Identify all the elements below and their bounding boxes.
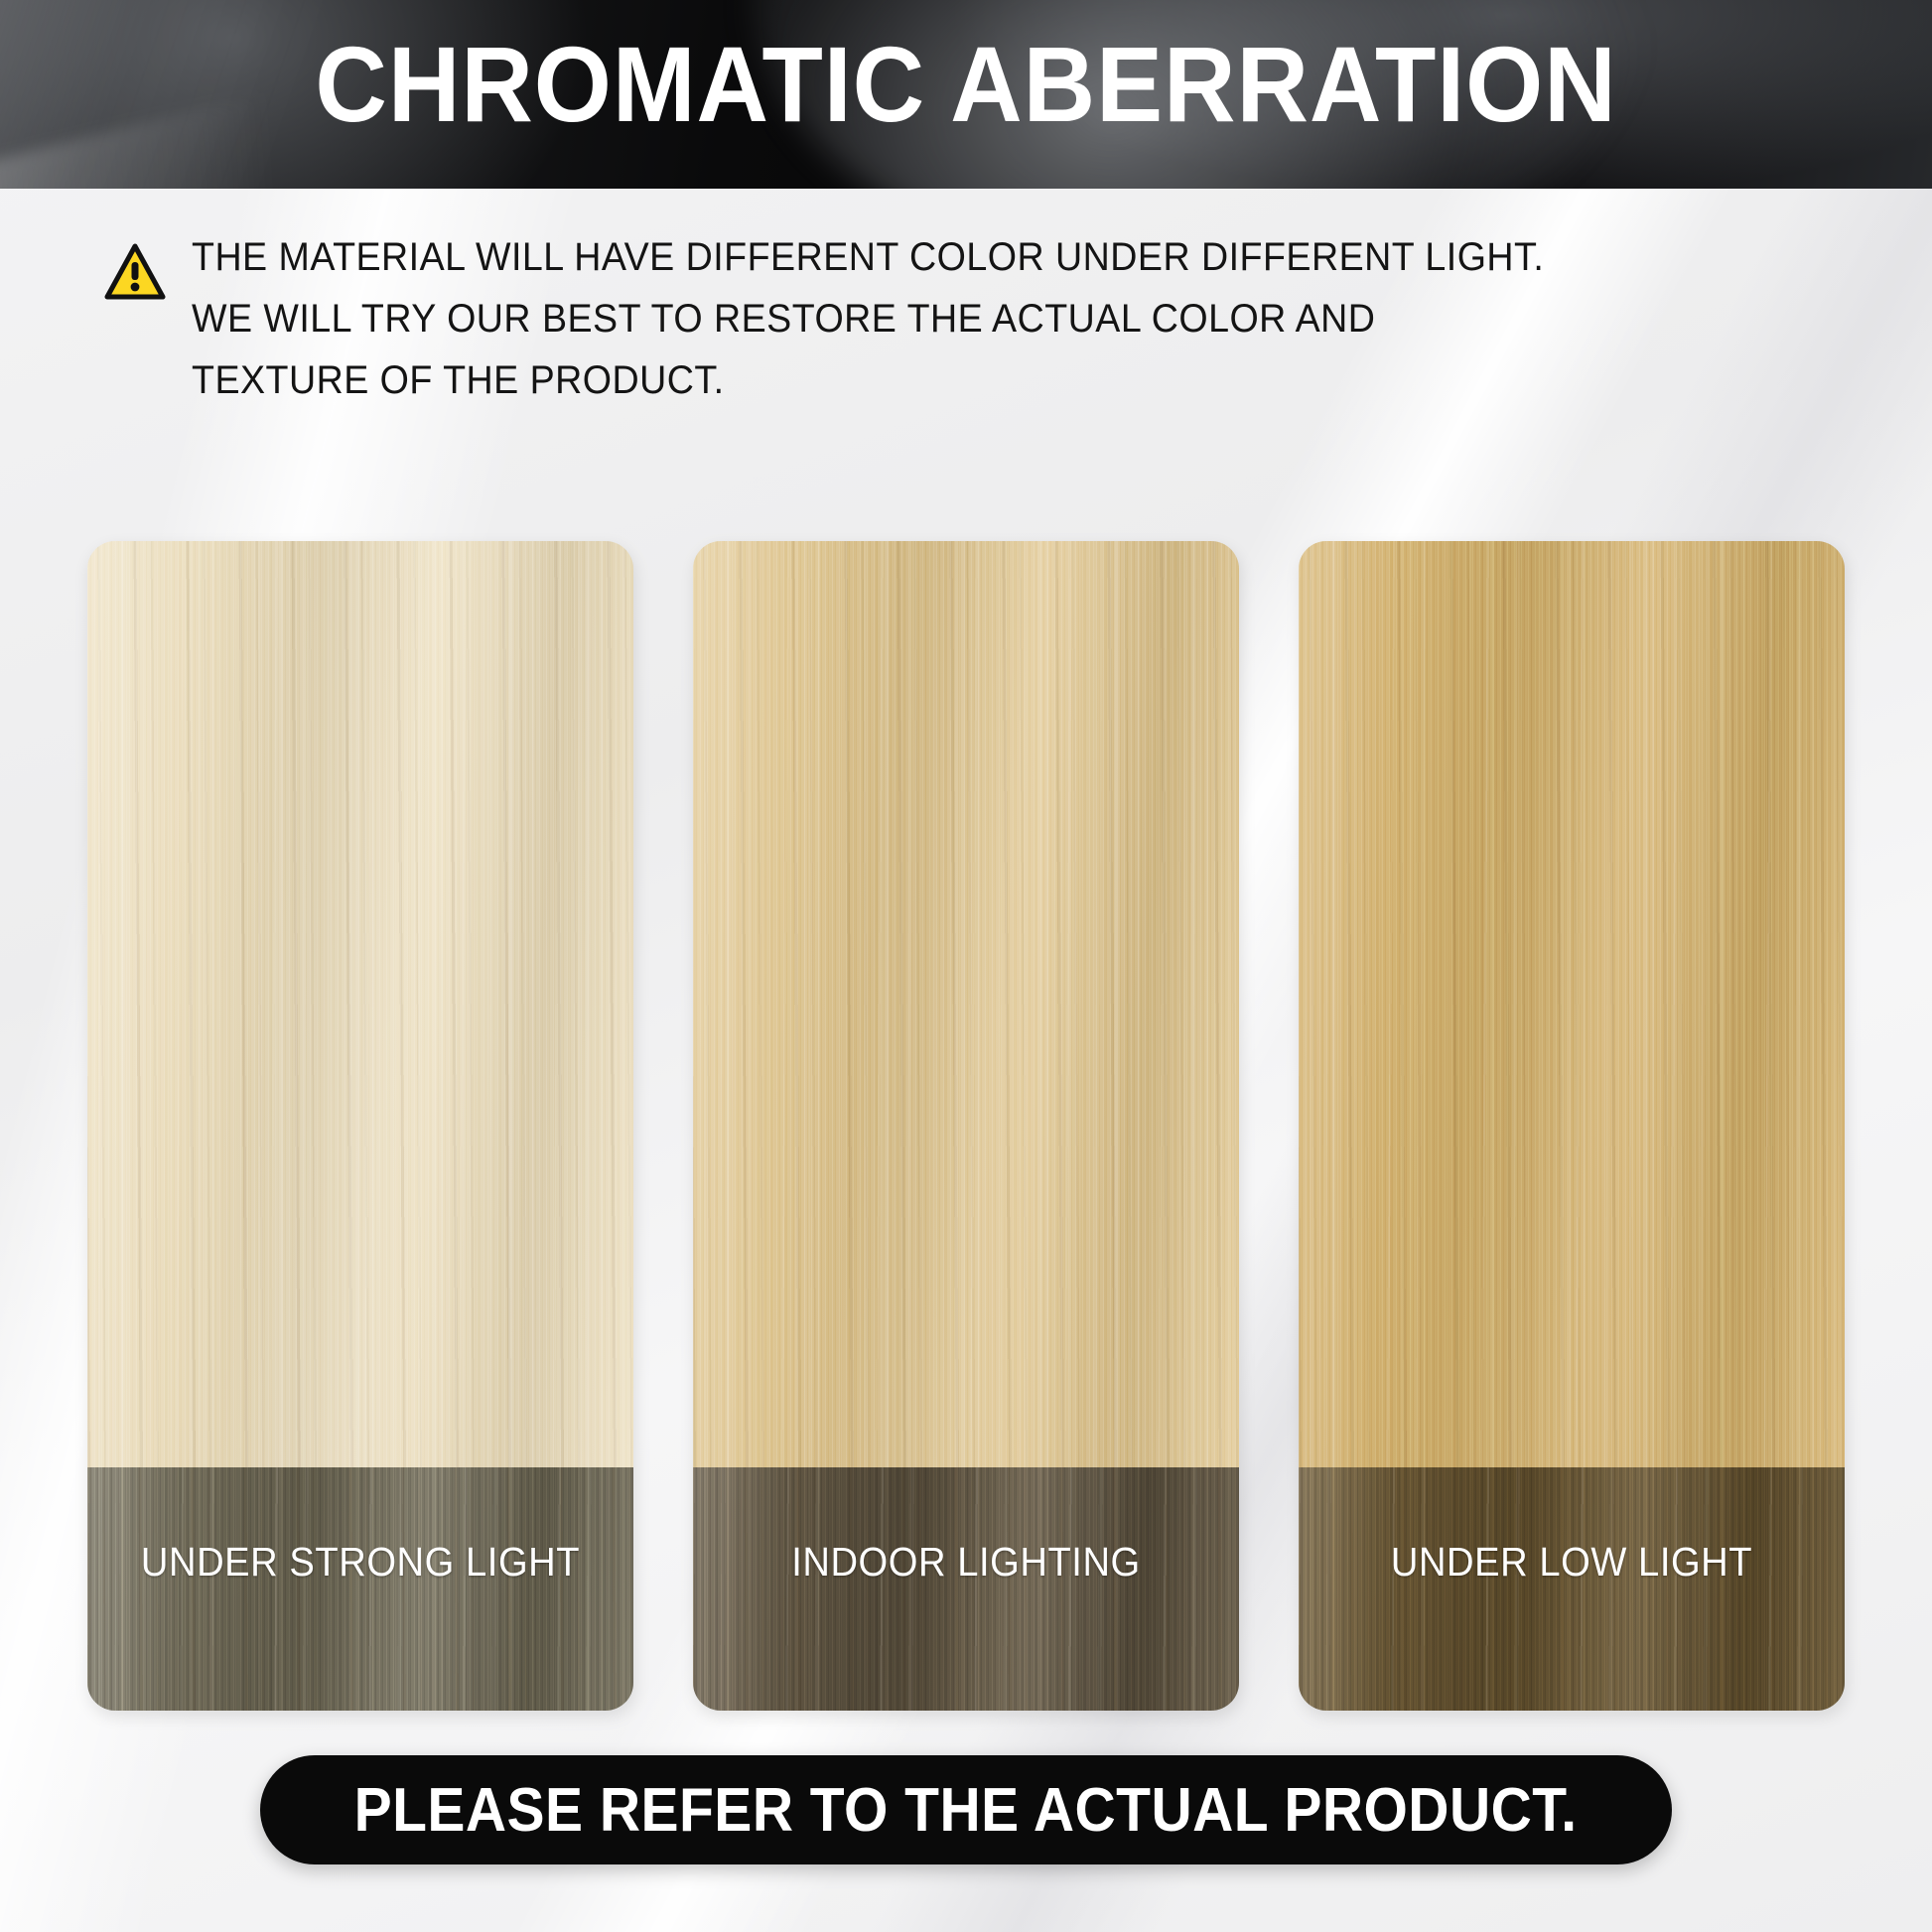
swatch-label-under-strong-light: UNDER STRONG LIGHT bbox=[106, 1539, 615, 1586]
warning-triangle-icon bbox=[104, 242, 166, 302]
swatch-3-top-grain-fine bbox=[1299, 541, 1845, 1467]
swatch-3-wood-band bbox=[1299, 1467, 1845, 1711]
swatch-1-top-grain-fine bbox=[87, 541, 633, 1467]
notice-text-block: THE MATERIAL WILL HAVE DIFFERENT COLOR U… bbox=[192, 226, 1544, 411]
swatch-3-band-grain-fine bbox=[1299, 1467, 1845, 1711]
swatch-under-strong-light[interactable]: UNDER STRONG LIGHT bbox=[87, 541, 633, 1711]
swatch-under-low-light[interactable]: UNDER LOW LIGHT bbox=[1299, 541, 1845, 1711]
swatch-3-wood-top bbox=[1299, 541, 1845, 1467]
page-title: CHROMATIC ABERRATION bbox=[68, 26, 1864, 144]
swatch-1-wood-band bbox=[87, 1467, 633, 1711]
swatch-label-under-low-light: UNDER LOW LIGHT bbox=[1317, 1539, 1826, 1586]
notice-line-2: WE WILL TRY OUR BEST TO RESTORE THE ACTU… bbox=[192, 288, 1544, 349]
swatch-label-indoor-lighting: INDOOR LIGHTING bbox=[712, 1539, 1220, 1586]
swatch-indoor-lighting[interactable]: INDOOR LIGHTING bbox=[693, 541, 1239, 1711]
swatch-2-wood-top bbox=[693, 541, 1239, 1467]
swatch-2-band-grain-fine bbox=[693, 1467, 1239, 1711]
swatch-2-top-grain-fine bbox=[693, 541, 1239, 1467]
swatch-comparison-row: UNDER STRONG LIGHT INDOOR LIGHTING UNDER… bbox=[0, 541, 1932, 1713]
notice-line-3: TEXTURE OF THE PRODUCT. bbox=[192, 349, 1544, 411]
swatch-2-wood-band bbox=[693, 1467, 1239, 1711]
refer-to-actual-product-banner[interactable]: PLEASE REFER TO THE ACTUAL PRODUCT. bbox=[260, 1755, 1672, 1864]
chromatic-aberration-notice: THE MATERIAL WILL HAVE DIFFERENT COLOR U… bbox=[104, 226, 1732, 411]
notice-line-1: THE MATERIAL WILL HAVE DIFFERENT COLOR U… bbox=[192, 226, 1544, 288]
swatch-1-band-grain-fine bbox=[87, 1467, 633, 1711]
swatch-1-wood-top bbox=[87, 541, 633, 1467]
header-banner: CHROMATIC ABERRATION bbox=[0, 0, 1932, 189]
footer-cta-text: PLEASE REFER TO THE ACTUAL PRODUCT. bbox=[354, 1775, 1578, 1846]
